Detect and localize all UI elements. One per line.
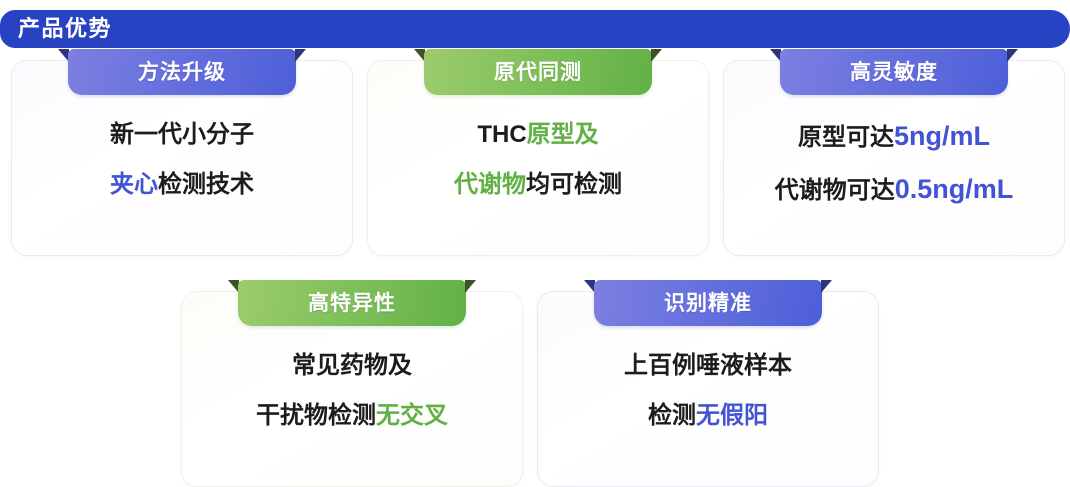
ribbon-fold-right-icon bbox=[651, 49, 662, 62]
card-badge-label: 方法升级 bbox=[138, 62, 226, 83]
card-text-segment: 上百例唾液样本 bbox=[624, 352, 792, 379]
card-text-highlight: 0.5ng/mL bbox=[895, 174, 1014, 204]
card-body: 上百例唾液样本检测无假阳 bbox=[538, 354, 878, 428]
card-body: 新一代小分子夹心检测技术 bbox=[12, 123, 352, 197]
section-header-banner: 产品优势 bbox=[0, 10, 1070, 48]
card-badge: 方法升级 bbox=[68, 49, 296, 95]
card-text-highlight: 5ng/mL bbox=[894, 121, 990, 151]
card-text-highlight: 代谢物 bbox=[454, 171, 526, 198]
card-text-line: 代谢物可达0.5ng/mL bbox=[734, 176, 1054, 203]
card-text-line: 上百例唾液样本 bbox=[548, 354, 868, 378]
ribbon-fold-right-icon bbox=[821, 280, 832, 293]
card-body: THC原型及代谢物均可检测 bbox=[368, 123, 708, 197]
card-badge-ribbon: 高特异性 bbox=[228, 280, 476, 326]
card-badge: 高特异性 bbox=[238, 280, 466, 326]
card-badge-label: 原代同测 bbox=[494, 62, 582, 83]
card-text-line: 干扰物检测无交叉 bbox=[192, 404, 512, 428]
card-text-segment: 均可检测 bbox=[526, 171, 622, 198]
card-badge: 高灵敏度 bbox=[780, 49, 1008, 95]
advantage-card: 高特异性常见药物及干扰物检测无交叉 bbox=[181, 291, 523, 487]
card-text-highlight: 无交叉 bbox=[376, 402, 448, 429]
advantage-card: 识别精准上百例唾液样本检测无假阳 bbox=[537, 291, 879, 487]
card-badge-ribbon: 方法升级 bbox=[58, 49, 306, 95]
card-text-segment: 干扰物检测 bbox=[256, 402, 376, 429]
card-text-line: 代谢物均可检测 bbox=[378, 173, 698, 197]
card-row-2: 高特异性常见药物及干扰物检测无交叉识别精准上百例唾液样本检测无假阳 bbox=[0, 291, 1070, 487]
advantage-card: 原代同测THC原型及代谢物均可检测 bbox=[367, 60, 709, 256]
card-badge: 原代同测 bbox=[424, 49, 652, 95]
card-text-highlight: 夹心 bbox=[110, 171, 158, 198]
card-text-segment: 原型可达 bbox=[798, 124, 894, 151]
page-title: 产品优势 bbox=[0, 18, 112, 40]
advantage-card-grid: 方法升级新一代小分子夹心检测技术原代同测THC原型及代谢物均可检测高灵敏度原型可… bbox=[0, 60, 1070, 487]
card-text-segment: 检测 bbox=[648, 402, 696, 429]
card-text-highlight: 无假阳 bbox=[696, 402, 768, 429]
card-badge-ribbon: 高灵敏度 bbox=[770, 49, 1018, 95]
card-badge-ribbon: 识别精准 bbox=[584, 280, 832, 326]
ribbon-fold-right-icon bbox=[1007, 49, 1018, 62]
card-text-segment: 常见药物及 bbox=[292, 352, 412, 379]
card-text-segment: 检测技术 bbox=[158, 171, 254, 198]
card-badge-label: 高灵敏度 bbox=[850, 62, 938, 83]
card-text-segment: THC bbox=[477, 121, 526, 148]
ribbon-fold-right-icon bbox=[465, 280, 476, 293]
card-text-line: 夹心检测技术 bbox=[22, 173, 342, 197]
card-text-line: THC原型及 bbox=[378, 123, 698, 147]
card-badge: 识别精准 bbox=[594, 280, 822, 326]
card-row-1: 方法升级新一代小分子夹心检测技术原代同测THC原型及代谢物均可检测高灵敏度原型可… bbox=[0, 60, 1070, 256]
card-badge-label: 识别精准 bbox=[664, 293, 752, 314]
card-body: 原型可达5ng/mL代谢物可达0.5ng/mL bbox=[724, 123, 1064, 203]
ribbon-fold-right-icon bbox=[295, 49, 306, 62]
card-text-line: 检测无假阳 bbox=[548, 404, 868, 428]
advantage-card: 高灵敏度原型可达5ng/mL代谢物可达0.5ng/mL bbox=[723, 60, 1065, 256]
card-text-line: 常见药物及 bbox=[192, 354, 512, 378]
card-text-segment: 代谢物可达 bbox=[775, 177, 895, 204]
card-badge-label: 高特异性 bbox=[308, 293, 396, 314]
advantage-card: 方法升级新一代小分子夹心检测技术 bbox=[11, 60, 353, 256]
card-text-line: 原型可达5ng/mL bbox=[734, 123, 1054, 150]
card-text-highlight: 原型及 bbox=[527, 121, 599, 148]
card-badge-ribbon: 原代同测 bbox=[414, 49, 662, 95]
card-text-segment: 新一代小分子 bbox=[110, 121, 254, 148]
card-body: 常见药物及干扰物检测无交叉 bbox=[182, 354, 522, 428]
card-text-line: 新一代小分子 bbox=[22, 123, 342, 147]
